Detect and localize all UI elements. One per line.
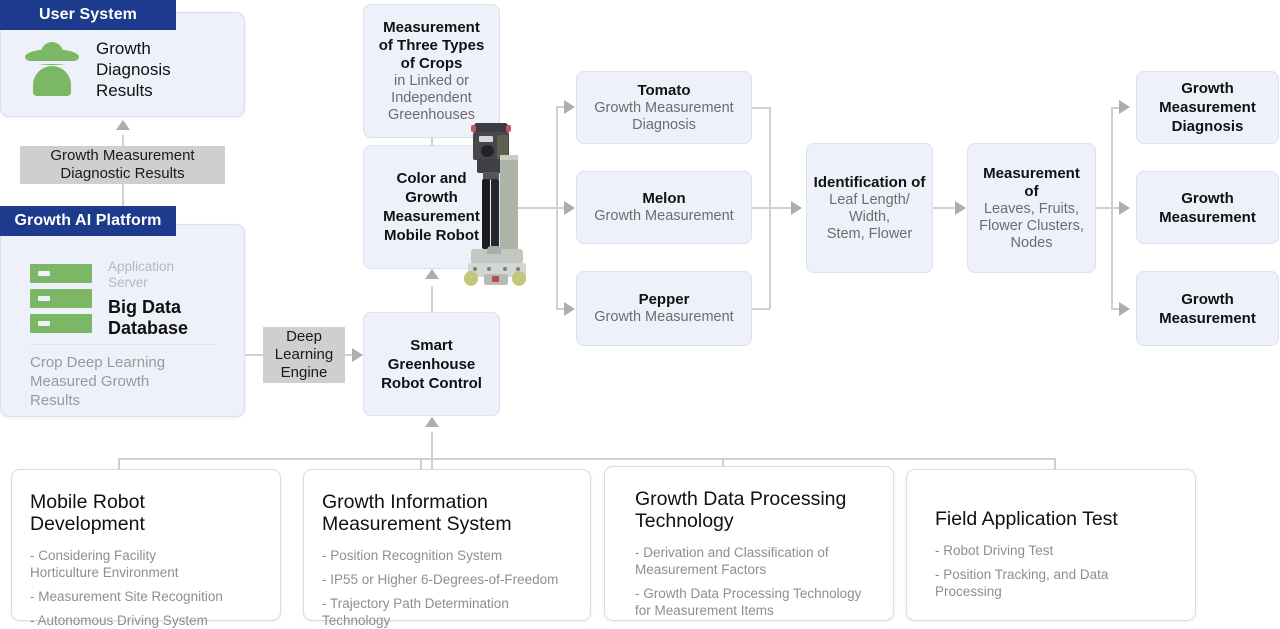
- smart-greenhouse-robot-control-box: Smart Greenhouse Robot Control: [363, 312, 500, 416]
- bottom-card-field-application-test: Field Application Test - Robot Driving T…: [906, 469, 1196, 621]
- connector-identification-to-measurement: [933, 207, 957, 209]
- output-box-1: Growth Measurement Diagnosis: [1136, 71, 1279, 144]
- user-system-tag: User System: [0, 0, 176, 30]
- mobile-robot-photo: [459, 123, 525, 288]
- arrow-right-to-tomato: [564, 100, 575, 114]
- crop-box-melon: Melon Growth Measurement: [576, 171, 752, 244]
- deep-learning-engine-label: Deep Learning Engine: [263, 327, 345, 383]
- connector-measurement-to-robot: [431, 138, 433, 145]
- arrow-right-to-pepper: [564, 302, 575, 316]
- list-item: - IP55 or Higher 6-Degrees-of-Freedom: [322, 571, 572, 588]
- measurement-of-box: Measurement of Leaves, Fruits, Flower Cl…: [967, 143, 1096, 273]
- crop-box-pepper: Pepper Growth Measurement: [576, 271, 752, 346]
- server-rack-icon: [30, 264, 92, 334]
- label-growth-measurement-diagnostic-results: Growth Measurement Diagnostic Results: [20, 146, 225, 184]
- measurement-three-crops-box: Measurement of Three Types of Crops in L…: [363, 4, 500, 138]
- connector-control-to-robot: [431, 286, 433, 312]
- bottom-card-title: Growth Information: [322, 491, 572, 513]
- farmer-person-icon: [24, 42, 80, 96]
- arrow-right-to-output-1: [1119, 100, 1130, 114]
- arrow-right-to-output-3: [1119, 302, 1130, 316]
- list-item: - Considering Facility Horticulture Envi…: [30, 547, 262, 581]
- arrow-right-to-identification: [791, 201, 802, 215]
- connector-pepper-out: [752, 308, 770, 310]
- list-item: - Position Recognition System: [322, 547, 572, 564]
- growth-ai-platform-tag: Growth AI Platform: [0, 206, 176, 236]
- list-item: - Position Tracking, and Data Processing: [935, 566, 1177, 600]
- list-item: - Measurement Site Recognition: [30, 588, 262, 605]
- bottom-card-growth-data-processing-technology: Growth Data Processing Technology - Deri…: [604, 466, 894, 621]
- bottom-card-mobile-robot-development: Mobile Robot Development - Considering F…: [11, 469, 281, 621]
- platform-divider: [30, 344, 216, 345]
- list-item: - Robot Driving Test: [935, 542, 1177, 559]
- user-system-label: Growth Diagnosis Results: [96, 38, 171, 101]
- arrow-right-to-robot-control: [352, 348, 363, 362]
- connector-measurement-out: [1096, 207, 1112, 209]
- arrow-right-to-melon: [564, 201, 575, 215]
- arrow-up-to-mobile-robot: [425, 269, 439, 279]
- connector-melon-out: [752, 207, 770, 209]
- arrow-right-to-measurement: [955, 201, 966, 215]
- growth-ai-platform-content: Application Server Big Data Database: [30, 263, 220, 335]
- arrow-up-to-robot-control: [425, 417, 439, 427]
- identification-box: Identification of Leaf Length/ Width, St…: [806, 143, 933, 273]
- arrow-right-to-output-2: [1119, 201, 1130, 215]
- user-system-content: Growth Diagnosis Results: [24, 36, 224, 102]
- list-item: - Growth Data Processing Technology for …: [635, 585, 875, 619]
- list-item: - Derivation and Classification of Measu…: [635, 544, 875, 578]
- bottom-card-growth-information-measurement-system: Growth Information Measurement System - …: [303, 469, 591, 621]
- application-server-label: Application: [108, 259, 188, 275]
- arrow-up-to-user-system: [116, 120, 130, 130]
- bottom-card-title: Growth Data Processing: [635, 488, 875, 510]
- bottom-card-title: Mobile Robot Development: [30, 491, 262, 535]
- connector-merge-to-identification: [769, 207, 793, 209]
- crop-box-tomato: Tomato Growth Measurement Diagnosis: [576, 71, 752, 144]
- output-box-3: Growth Measurement: [1136, 271, 1279, 346]
- connector-bottom-bus: [118, 458, 1055, 460]
- connector-platform-to-dle: [245, 354, 265, 356]
- diagram-canvas: User System Growth Diagnosis Results Gro…: [0, 0, 1280, 621]
- platform-footer-text: Crop Deep Learning Measured Growth Resul…: [30, 353, 230, 410]
- list-item: - Trajectory Path Determination Technolo…: [322, 595, 572, 629]
- output-box-2: Growth Measurement: [1136, 171, 1279, 244]
- big-data-label: Big Data: [108, 297, 188, 318]
- connector-bottom-tree-to-control: [431, 432, 433, 470]
- connector-tomato-out: [752, 107, 770, 109]
- bottom-card-title: Field Application Test: [935, 508, 1177, 530]
